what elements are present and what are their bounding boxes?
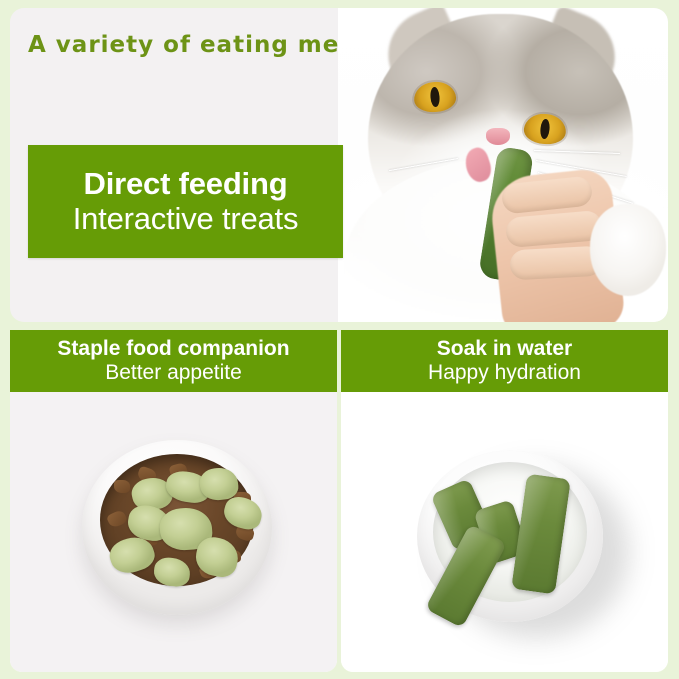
panel-soak-in-water-header: Soak in water Happy hydration — [341, 330, 668, 392]
cat-licking-treat-photo — [338, 8, 668, 322]
panel-heading: Staple food companion — [57, 337, 289, 361]
finger — [509, 246, 602, 281]
product-infographic: A variety of eating methods Direct fee — [0, 0, 679, 679]
cat-paw — [590, 204, 666, 296]
kibble-piece — [114, 480, 130, 493]
panel-subheading: Better appetite — [105, 361, 242, 385]
panel-soak-in-water: Soak in water Happy hydration — [341, 330, 668, 672]
hero-card: A variety of eating methods Direct fee — [10, 8, 668, 322]
panel-heading: Soak in water — [437, 337, 572, 361]
cat-nose — [486, 128, 510, 145]
hero-banner-line1: Direct feeding — [84, 167, 288, 202]
hero-banner: Direct feeding Interactive treats — [28, 145, 343, 258]
panel-subheading: Happy hydration — [428, 361, 581, 385]
water-bowl-photo — [341, 392, 668, 672]
hero-banner-line2: Interactive treats — [73, 202, 299, 237]
kibble-bowl-photo — [10, 392, 337, 672]
panel-staple-food: Staple food companion Better appetite — [10, 330, 337, 672]
panel-staple-food-header: Staple food companion Better appetite — [10, 330, 337, 392]
